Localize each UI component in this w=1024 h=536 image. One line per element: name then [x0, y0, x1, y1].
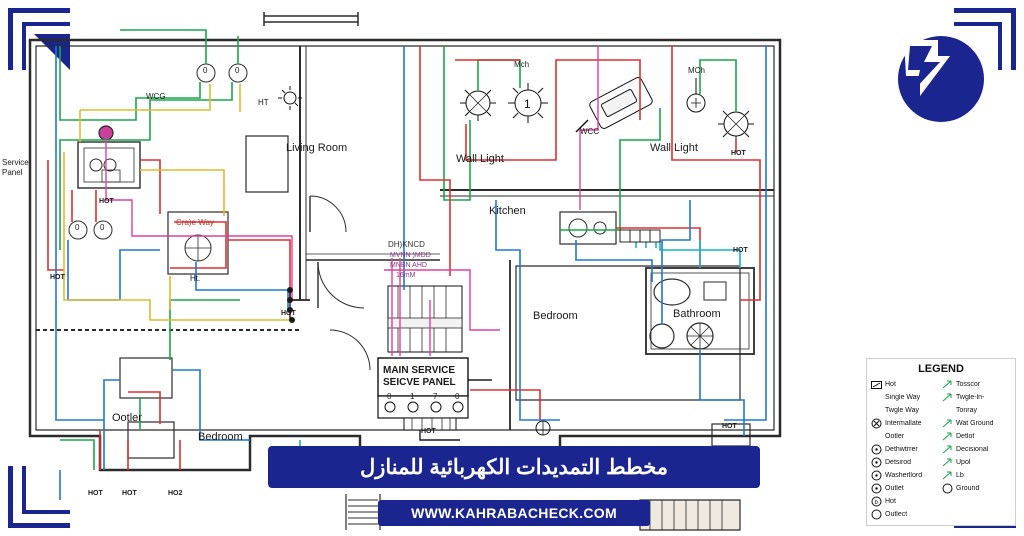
- legend-item: Ootler: [871, 430, 940, 443]
- banner-title: مخطط التمديدات الكهربائية للمنازل: [360, 455, 668, 480]
- legend-label: Detsirod: [885, 459, 911, 466]
- arrow-icon: [942, 379, 953, 390]
- panel-digit-3: 0: [455, 392, 459, 401]
- label-wall-light-left: Wall Light: [456, 153, 504, 165]
- wcc-label-kitchen: WCC: [580, 127, 599, 136]
- panel-sub-text-1: MVNN )MDD: [390, 252, 431, 259]
- website-url: WWW.KAHRABACHECK.COM: [411, 505, 617, 521]
- legend-label: Tonray: [956, 407, 977, 414]
- circle-dot-icon: [871, 483, 882, 494]
- legend-label: Dethwtrrer: [885, 446, 918, 453]
- circle-dot-icon: [871, 444, 882, 455]
- lightning-bolt-logo: [898, 36, 984, 122]
- arrow-icon: [942, 444, 953, 455]
- wire-group-magenta: [106, 46, 598, 356]
- circle-dot-icon: [871, 457, 882, 468]
- panel-digit-1: 1: [410, 392, 414, 401]
- switch-box-icon: [871, 379, 882, 390]
- wcc-label-top: WCG: [146, 92, 166, 101]
- hot-label-8: HOT: [122, 490, 137, 497]
- wall-lamp-fixture: [576, 76, 654, 132]
- blank-icon: [942, 405, 953, 416]
- legend-item: Twgle Way: [871, 404, 940, 417]
- service-panel-label: ServicePanel: [2, 158, 29, 178]
- legend-label: Twgle Way: [885, 407, 919, 414]
- mch-label-1: Mch: [514, 60, 529, 69]
- legend-item: Tosscor: [942, 378, 1011, 391]
- room-label-kitchen: Kitchen: [489, 205, 526, 217]
- arrow-icon: [942, 457, 953, 468]
- hot-label-2: HOT: [50, 274, 65, 281]
- wiring-diagram-page: 1: [0, 0, 1024, 536]
- hot-label-6: HOT: [722, 423, 737, 430]
- legend-label: Twgle-ln-: [956, 394, 984, 401]
- x-circle-icon: [871, 418, 882, 429]
- room-label-bedroom-main: Bedroom: [533, 310, 578, 322]
- arrow-icon: [942, 431, 953, 442]
- bolt-icon: [898, 36, 956, 100]
- legend-item: Detlot: [942, 430, 1011, 443]
- ht-label-top: HT: [258, 98, 269, 107]
- room-label-living-room: Living Room: [286, 142, 347, 154]
- legend-item: Hot: [871, 378, 940, 391]
- legend-item: Detsirod: [871, 456, 940, 469]
- circle-b-icon: b: [871, 496, 882, 507]
- arrow-icon: [942, 470, 953, 481]
- hot-label-3: HOT: [281, 310, 296, 317]
- title-banner: مخطط التمديدات الكهربائية للمنازل: [268, 446, 760, 488]
- legend-panel: LEGEND Hot Single Way Twgle Way Intermal…: [866, 358, 1016, 526]
- legend-label: Washerllord: [885, 472, 922, 479]
- main-panel-title-line2: SEICVE PANEL: [383, 377, 456, 388]
- legend-item: Outlect: [871, 508, 940, 521]
- legend-item: Washerllord: [871, 469, 940, 482]
- legend-item: bHot: [871, 495, 940, 508]
- hot-label-1: HOT: [99, 198, 114, 205]
- legend-item: Twgle-ln-: [942, 391, 1011, 404]
- panel-header-text: DH)KNCD: [388, 240, 425, 249]
- legend-label: Lb: [956, 472, 964, 479]
- blank-icon: [871, 392, 882, 403]
- legend-label: Hot: [885, 498, 896, 505]
- switch-marker-0c: 0: [75, 223, 79, 232]
- circle-dot-icon: [871, 470, 882, 481]
- legend-item: Outlet: [871, 482, 940, 495]
- svg-text:1: 1: [524, 97, 531, 111]
- legend-item: Upol: [942, 456, 1011, 469]
- circle-icon: [871, 509, 882, 520]
- panel-digit-0: 0: [387, 392, 391, 401]
- legend-item: Dethwtrrer: [871, 443, 940, 456]
- legend-label: Hot: [885, 381, 896, 388]
- legend-left-column: Hot Single Way Twgle Way Intermallate Oo…: [871, 378, 940, 521]
- legend-item: Lb: [942, 469, 1011, 482]
- legend-label: Tosscor: [956, 381, 980, 388]
- room-label-bathroom: Bathroom: [673, 308, 721, 320]
- ht-label: Ht.: [190, 274, 200, 283]
- legend-label: Intermallate: [885, 420, 922, 427]
- switch-marker-0b: 0: [235, 66, 239, 75]
- panel-digit-2: 7: [433, 392, 437, 401]
- website-url-bar: WWW.KAHRABACHECK.COM: [378, 500, 650, 526]
- panel-sub-text-2: MNBN AHD: [390, 262, 427, 269]
- legend-label: Wat Ground: [956, 420, 993, 427]
- legend-right-column: Tosscor Twgle-ln- Tonray Wat Ground Detl…: [942, 378, 1011, 521]
- arrow-icon: [942, 418, 953, 429]
- legend-label: Outlect: [885, 511, 907, 518]
- ho2-label: HO2: [168, 490, 182, 497]
- legend-label: Single Way: [885, 394, 920, 401]
- three-way-label: Cra)e Way: [176, 218, 214, 227]
- legend-label: Detlot: [956, 433, 974, 440]
- hot-label-7: HOT: [88, 490, 103, 497]
- switch-marker-0a: 0: [203, 66, 207, 75]
- mch-label-2: MCh: [688, 66, 705, 75]
- legend-label: Upol: [956, 459, 970, 466]
- legend-label: Ootler: [885, 433, 904, 440]
- hot-label-5: HOT: [733, 247, 748, 254]
- panel-sub-text-3: 16mM: [396, 272, 415, 279]
- circle-icon: [942, 483, 953, 494]
- switch-marker-0d: 0: [100, 223, 104, 232]
- legend-item: Single Way: [871, 391, 940, 404]
- blank-icon: [871, 431, 882, 442]
- hot-label-4: HOT: [731, 150, 746, 157]
- hot-label-panel: HOT: [421, 428, 436, 435]
- arrow-icon: [942, 392, 953, 403]
- room-label-bedroom-lower: Bedroom: [198, 431, 243, 443]
- legend-item: Tonray: [942, 404, 1011, 417]
- legend-item: Decisional: [942, 443, 1011, 456]
- main-panel-title-line1: MAIN SERVICE: [383, 365, 455, 376]
- legend-label: Outlet: [885, 485, 904, 492]
- legend-title: LEGEND: [867, 363, 1015, 375]
- blank-icon: [871, 405, 882, 416]
- legend-item: Intermallate: [871, 417, 940, 430]
- legend-label: Decisional: [956, 446, 988, 453]
- legend-item: Wat Ground: [942, 417, 1011, 430]
- legend-item: Ground: [942, 482, 1011, 495]
- kitchen-outlet-strip: [620, 230, 660, 242]
- outlet-label-left: Ootler: [112, 412, 142, 424]
- label-wall-light-right: Wall Light: [650, 142, 698, 154]
- legend-label: Ground: [956, 485, 979, 492]
